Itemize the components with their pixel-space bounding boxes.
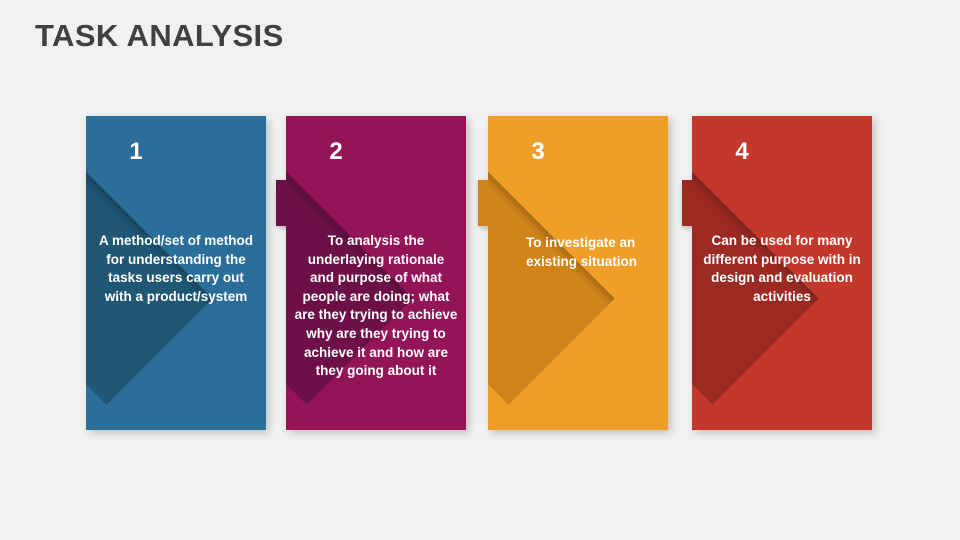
card-text: Can be used for many different purpose w… [700,232,864,306]
task-card-4[interactable]: 4 Can be used for many different purpose… [692,116,872,430]
task-card-1[interactable]: 1 A method/set of method for understandi… [86,116,266,430]
card-number: 3 [488,138,588,166]
card-text: A method/set of method for understanding… [94,232,258,306]
card-number: 1 [86,138,186,166]
card-body: 4 Can be used for many different purpose… [692,116,872,430]
card-number: 4 [692,138,792,166]
card-body: 2 To analysis the underlaying rationale … [286,116,466,430]
page-title: TASK ANALYSIS [35,18,284,54]
card-number: 2 [286,138,386,166]
slide-canvas: TASK ANALYSIS 1 A method/set of method f… [0,0,960,540]
task-card-2[interactable]: 2 To analysis the underlaying rationale … [286,116,466,430]
card-body: 1 A method/set of method for understandi… [86,116,266,430]
card-text: To investigate an existing situation [526,234,654,271]
card-text: To analysis the underlaying rationale an… [294,232,458,381]
task-card-3[interactable]: 3 To investigate an existing situation [488,116,668,430]
card-body: 3 To investigate an existing situation [488,116,668,430]
